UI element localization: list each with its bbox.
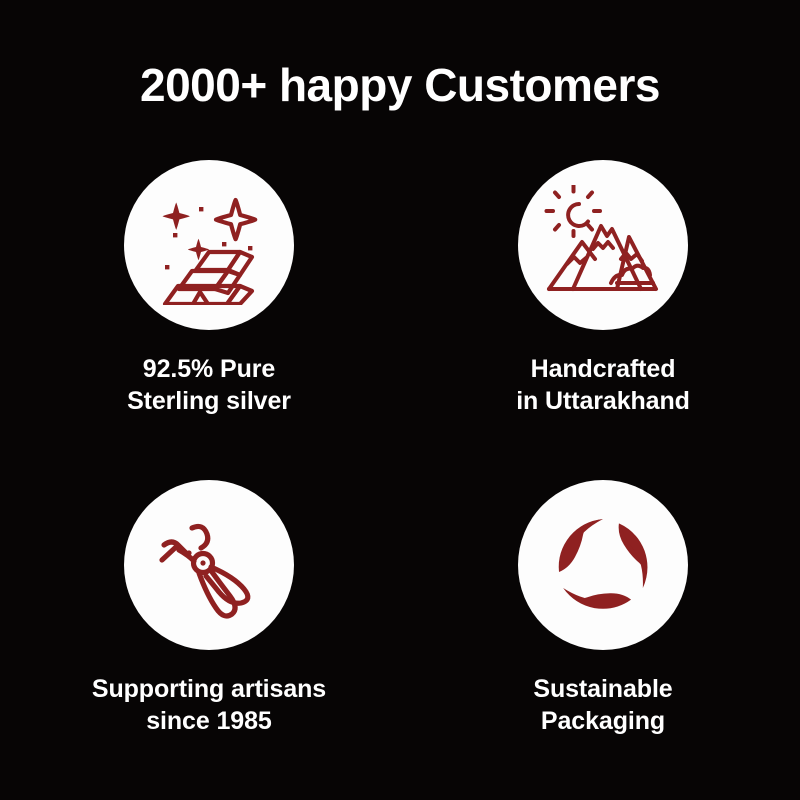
feature-caption: Sustainable Packaging (533, 674, 672, 737)
feature-item-handcrafted: Handcrafted in Uttarakhand (400, 160, 800, 460)
promo-banner: 2000+ happy Customers (0, 0, 800, 800)
page-title: 2000+ happy Customers (0, 62, 800, 108)
feature-caption-line2: in Uttarakhand (516, 386, 690, 418)
feature-caption: Supporting artisans since 1985 (92, 674, 326, 737)
feature-caption-line1: Supporting artisans (92, 675, 326, 703)
feature-caption-line2: since 1985 (92, 706, 326, 738)
feature-caption-line1: Handcrafted (531, 355, 676, 383)
feature-badge (124, 480, 294, 650)
silver-bars-icon (149, 185, 269, 305)
feature-caption-line2: Packaging (533, 706, 672, 738)
feature-caption-line1: 92.5% Pure (143, 355, 275, 383)
feature-badge (518, 160, 688, 330)
pliers-icon (149, 505, 269, 625)
feature-caption-line2: Sterling silver (127, 386, 291, 418)
feature-caption: 92.5% Pure Sterling silver (127, 354, 291, 417)
feature-badge (518, 480, 688, 650)
feature-caption: Handcrafted in Uttarakhand (516, 354, 690, 417)
feature-item-sustainable-packaging: Sustainable Packaging (400, 480, 800, 780)
feature-item-supporting-artisans: Supporting artisans since 1985 (0, 480, 400, 780)
feature-caption-line1: Sustainable (533, 675, 672, 703)
feature-badge (124, 160, 294, 330)
three-leaves-icon (543, 505, 663, 625)
feature-grid: 92.5% Pure Sterling silver (0, 160, 800, 780)
mountains-sun-icon (543, 185, 663, 305)
feature-item-sterling-silver: 92.5% Pure Sterling silver (0, 160, 400, 460)
